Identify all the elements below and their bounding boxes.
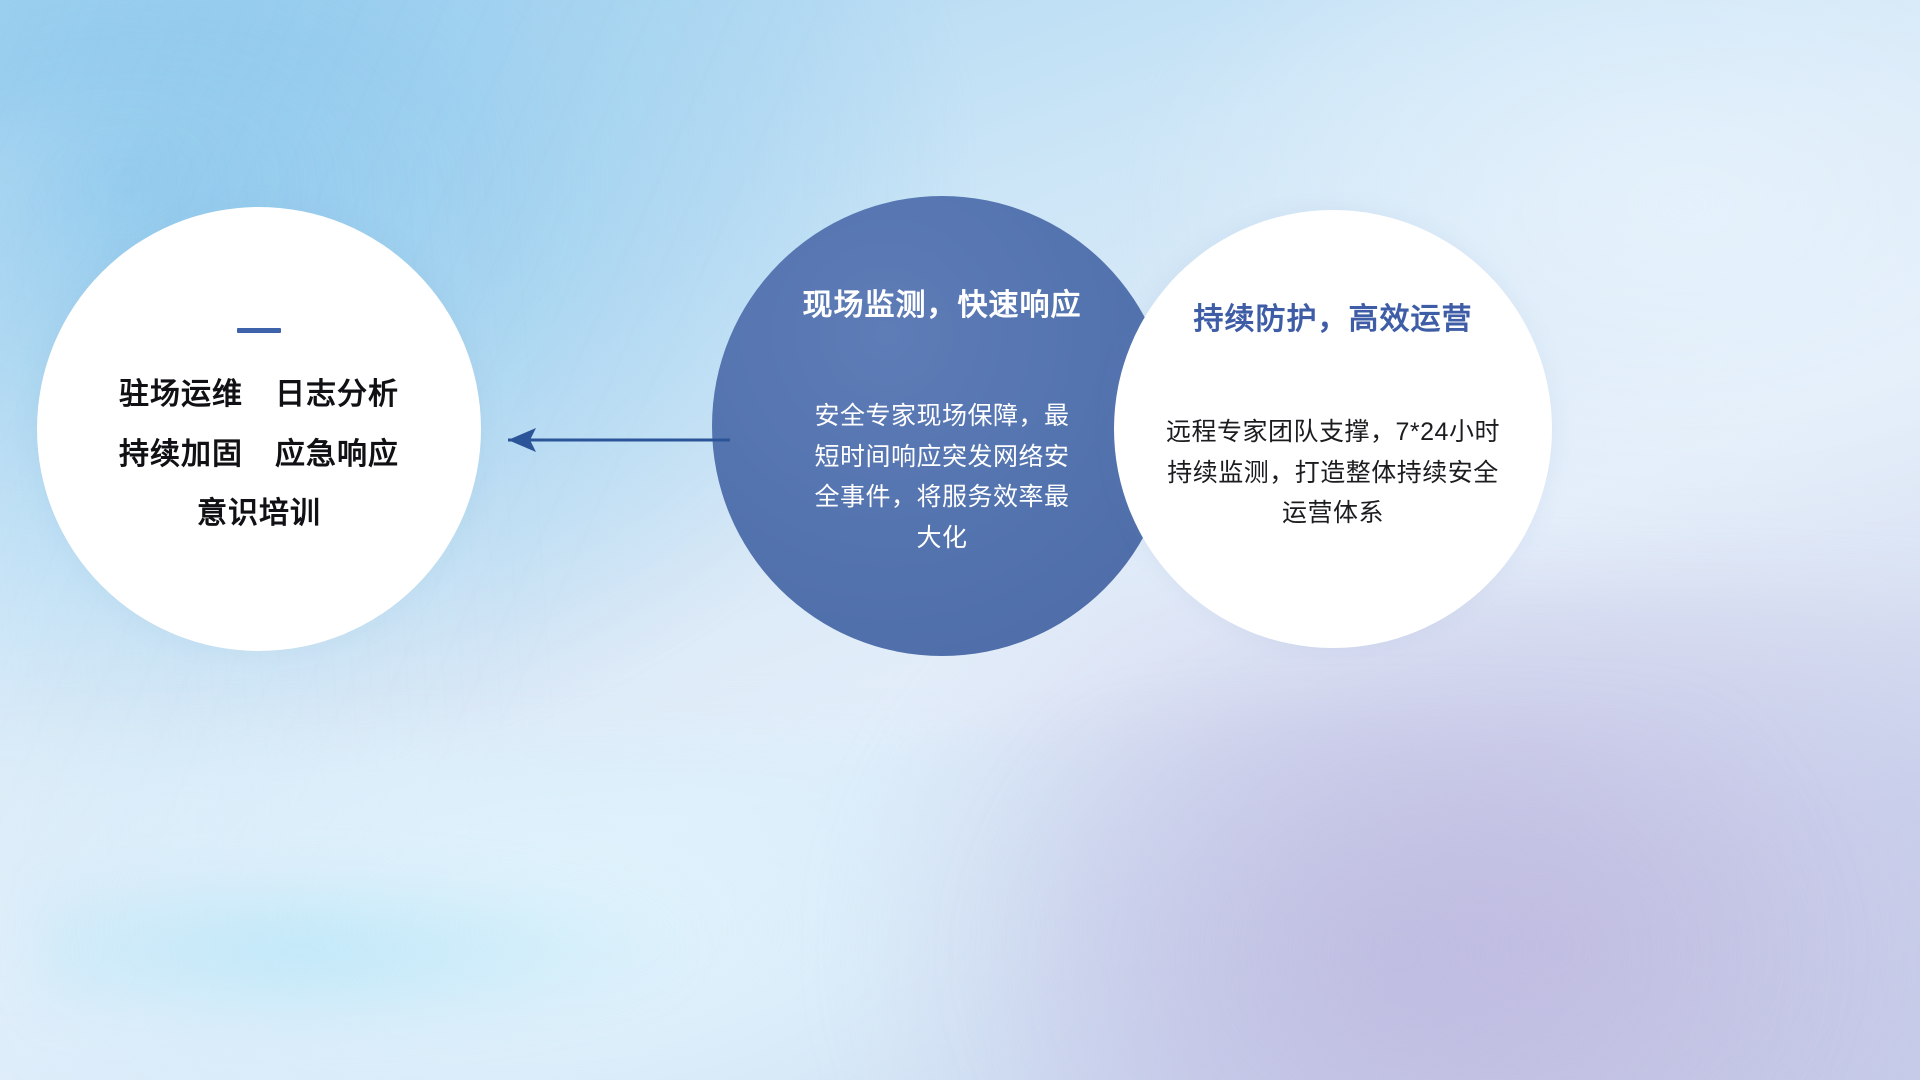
right-service-circle[interactable]: 持续防护，高效运营 远程专家团队支撑，7*24小时持续监测，打造整体持续安全运营… (1114, 210, 1552, 648)
left-circle-content: 驻场运维 日志分析 持续加固 应急响应 意识培训 (37, 207, 481, 651)
horizontal-dash-icon (237, 328, 281, 333)
right-circle-body: 远程专家团队支撑，7*24小时持续监测，打造整体持续安全运营体系 (1157, 412, 1509, 534)
middle-circle-content: 现场监测，快速响应 安全专家现场保障，最短时间响应突发网络安全事件，将服务效率最… (712, 196, 1172, 656)
keyword-item: 应急响应 (275, 439, 399, 471)
arrow-left-icon (480, 400, 730, 480)
middle-circle-body: 安全专家现场保障，最短时间响应突发网络安全事件，将服务效率最大化 (808, 396, 1076, 558)
middle-service-circle[interactable]: 现场监测，快速响应 安全专家现场保障，最短时间响应突发网络安全事件，将服务效率最… (712, 196, 1172, 656)
left-capability-circle[interactable]: 驻场运维 日志分析 持续加固 应急响应 意识培训 (37, 207, 481, 651)
keyword-row: 持续加固 应急响应 (119, 439, 399, 471)
middle-circle-title: 现场监测，快速响应 (803, 280, 1082, 324)
right-circle-title: 持续防护，高效运营 (1194, 294, 1473, 338)
keyword-item: 持续加固 (119, 439, 243, 471)
right-circle-content: 持续防护，高效运营 远程专家团队支撑，7*24小时持续监测，打造整体持续安全运营… (1114, 210, 1552, 648)
keyword-row: 意识培训 (197, 498, 321, 530)
keyword-item: 日志分析 (275, 379, 399, 411)
keyword-item: 意识培训 (197, 498, 321, 530)
diagram-stage: 现场监测，快速响应 安全专家现场保障，最短时间响应突发网络安全事件，将服务效率最… (0, 0, 1920, 1080)
keyword-row: 驻场运维 日志分析 (119, 379, 399, 411)
keyword-item: 驻场运维 (119, 379, 243, 411)
